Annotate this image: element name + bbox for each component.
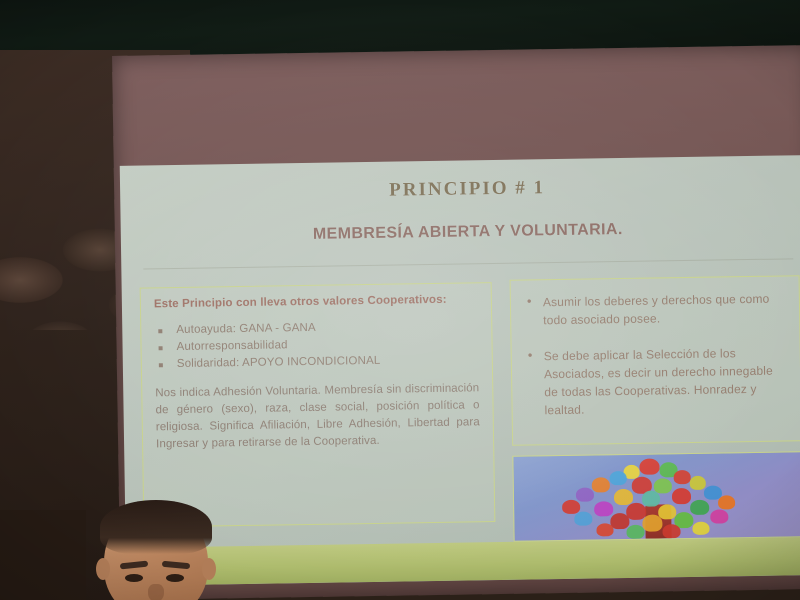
- handprint: [718, 495, 735, 509]
- presenter-nose: [148, 584, 164, 600]
- right-box-bullet-list: Asumir los deberes y derechos que como t…: [523, 289, 789, 419]
- left-box-lead-text: Este Principio con lleva otros valores C…: [154, 293, 478, 310]
- handprint: [658, 504, 676, 519]
- handprint: [642, 514, 662, 531]
- handprint: [614, 489, 633, 505]
- presenter-ear-right: [202, 558, 216, 580]
- handprint: [610, 471, 627, 485]
- handprint-tree-icon: [513, 452, 800, 541]
- presenter-hair: [100, 500, 212, 554]
- photo-scene: PRINCIPIO # 1 MEMBRESÍA ABIERTA Y VOLUNT…: [0, 0, 800, 600]
- list-item: Se debe aplicar la Selección de los Asoc…: [524, 343, 789, 419]
- handprint: [639, 458, 659, 474]
- left-content-box: Este Principio con lleva otros valores C…: [140, 282, 496, 527]
- handprint: [574, 512, 592, 526]
- left-box-paragraph: Nos indica Adhesión Voluntaria. Membresí…: [155, 380, 480, 453]
- left-box-bullet-list: Autoayuda: GANA - GANA Autorresponsabili…: [154, 317, 479, 373]
- handprint: [690, 500, 709, 515]
- handprint: [592, 477, 610, 492]
- handprint: [596, 523, 613, 536]
- foreground-dark-edge: [0, 510, 86, 600]
- handprint: [576, 487, 594, 501]
- presenter-eye-right: [166, 574, 184, 582]
- right-content-box: Asumir los deberes y derechos que como t…: [510, 275, 800, 446]
- presenter-head: [90, 500, 222, 600]
- slide-image-frame: [512, 451, 800, 542]
- slide-subtitle: MEMBRESÍA ABIERTA Y VOLUNTARIA.: [121, 218, 800, 247]
- handprint: [710, 509, 728, 523]
- handprint: [672, 488, 691, 504]
- slide-bottom-band: [126, 537, 800, 586]
- list-item: Asumir los deberes y derechos que como t…: [523, 289, 788, 329]
- handprint: [692, 522, 709, 535]
- handprint: [610, 513, 629, 529]
- handprint: [642, 490, 660, 506]
- handprint: [594, 501, 613, 516]
- handprint: [690, 476, 706, 490]
- title-divider: [143, 258, 793, 269]
- handprint: [626, 525, 644, 539]
- handprint: [662, 524, 680, 538]
- slide-title: PRINCIPIO # 1: [120, 173, 800, 206]
- presenter-eye-left: [125, 574, 143, 582]
- presenter-ear-left: [96, 558, 110, 580]
- handprint: [674, 470, 691, 484]
